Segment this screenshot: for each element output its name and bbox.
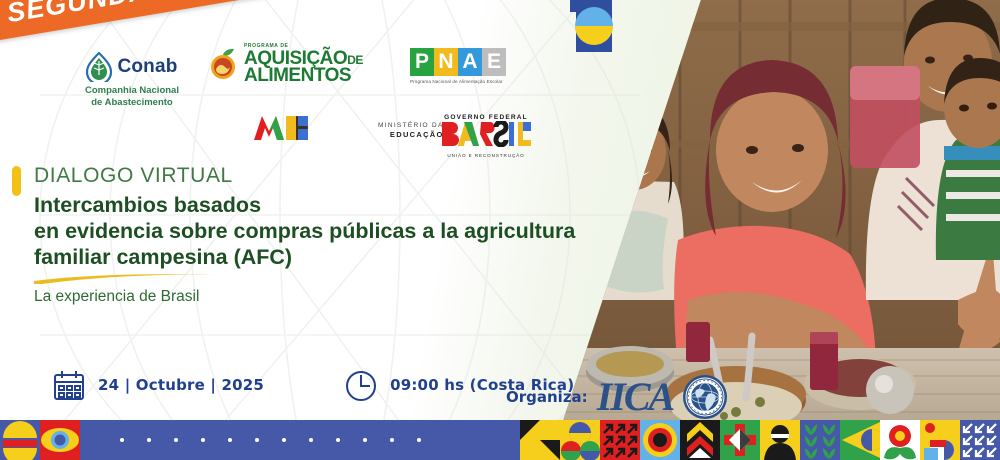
conab-subtitle-line2: de Abastecimento xyxy=(62,97,202,109)
event-meta: 24 | Octubre | 2025 09:00 hs (Costa Rica… xyxy=(52,368,574,402)
orange-fruit-icon xyxy=(208,48,238,80)
leaf-droplet-icon xyxy=(86,52,112,82)
subtitle-text: La experiencia de Brasil xyxy=(34,288,199,306)
house-tile xyxy=(920,420,960,460)
moon-tile xyxy=(840,420,880,460)
blue-circle-badge xyxy=(570,0,618,58)
strip-dot xyxy=(336,438,340,442)
pnae-letter-a: A xyxy=(458,48,482,76)
headline-line3: familiar campesina (AFC) xyxy=(34,244,594,270)
yellow-swoosh-underline xyxy=(30,268,220,284)
chevrons-tile xyxy=(680,420,720,460)
eye-tile xyxy=(40,420,80,460)
cross-tile xyxy=(720,420,760,460)
page-title: Intercambios basados en evidencia sobre … xyxy=(34,192,594,271)
strip-dot xyxy=(390,438,394,442)
headline-line2: en evidencia sobre compras públicas a la… xyxy=(34,218,594,244)
strip-dot xyxy=(120,438,124,442)
date-group: 24 | Octubre | 2025 xyxy=(52,368,264,402)
strip-dot xyxy=(363,438,367,442)
pnae-letter-n: N xyxy=(434,48,458,76)
strip-dot xyxy=(147,438,151,442)
arrowgrid-tile xyxy=(960,420,1000,460)
bottom-pattern-bar xyxy=(0,420,1000,460)
partner-logos: Conab Companhia Nacional de Abasteciment… xyxy=(0,14,560,154)
organizer-block: Organiza: IICA xyxy=(506,374,728,420)
strip-dot xyxy=(417,438,421,442)
headline-line1: Intercambios basados xyxy=(34,192,594,218)
event-date: 24 | Octubre | 2025 xyxy=(98,376,264,394)
mds-logo xyxy=(253,113,309,146)
strip-dot xyxy=(228,438,232,442)
pnae-letter-p: P xyxy=(410,48,434,76)
flower-tile xyxy=(880,420,920,460)
kicker-text: DIALOGO VIRTUAL xyxy=(34,164,233,188)
conab-subtitle-line1: Companhia Nacional xyxy=(62,85,202,97)
conab-logo: Conab Companhia Nacional de Abasteciment… xyxy=(62,52,202,109)
sunrise-tile xyxy=(0,420,40,460)
strip-dot xyxy=(255,438,259,442)
pnae-subtitle: Programa Nacional de Alimentação Escolar xyxy=(410,79,506,84)
person-tile xyxy=(760,420,800,460)
iica-globe-emblem xyxy=(682,374,728,420)
mec-line1: MINISTÉRIO DA xyxy=(378,122,444,130)
triangles-tile xyxy=(520,420,560,460)
poster: SEGUNDA PARTE Conab Companhia Nacional d… xyxy=(0,0,1000,460)
paa-logo: PROGRAMA DE AQUISIÇÃODE ALIMENTOS xyxy=(208,44,363,85)
target-tile xyxy=(640,420,680,460)
governo-bottom-text: UNIÃO E RECONSTRUÇÃO xyxy=(440,153,532,158)
strip-dot xyxy=(309,438,313,442)
wheat-tile xyxy=(800,420,840,460)
title-accent-bar xyxy=(12,166,21,196)
circles-tile xyxy=(560,420,600,460)
paa-line2: ALIMENTOS xyxy=(244,67,363,85)
calendar-icon xyxy=(52,368,86,402)
strip-dot xyxy=(282,438,286,442)
pnae-logo: P N A E Programa Nacional de Alimentação… xyxy=(410,48,506,84)
organizer-label: Organiza: xyxy=(506,388,588,406)
dot-strip xyxy=(80,420,520,460)
clock-icon xyxy=(344,368,378,402)
mec-logo: MINISTÉRIO DA EDUCAÇÃO xyxy=(378,122,444,140)
strip-dot xyxy=(174,438,178,442)
arrows-tile xyxy=(600,420,640,460)
brasil-wordmark-icon xyxy=(440,121,532,147)
iica-wordmark: IICA xyxy=(597,381,674,413)
pnae-letter-e: E xyxy=(482,48,506,76)
governo-federal-logo: GOVERNO FEDERAL UNIÃO E RECONSTRUÇÃO xyxy=(440,114,532,158)
mec-line2: EDUCAÇÃO xyxy=(378,130,444,139)
governo-top-text: GOVERNO FEDERAL xyxy=(440,114,532,121)
conab-name: Conab xyxy=(117,56,177,78)
strip-dot xyxy=(201,438,205,442)
mds-blocks-icon xyxy=(253,113,309,141)
